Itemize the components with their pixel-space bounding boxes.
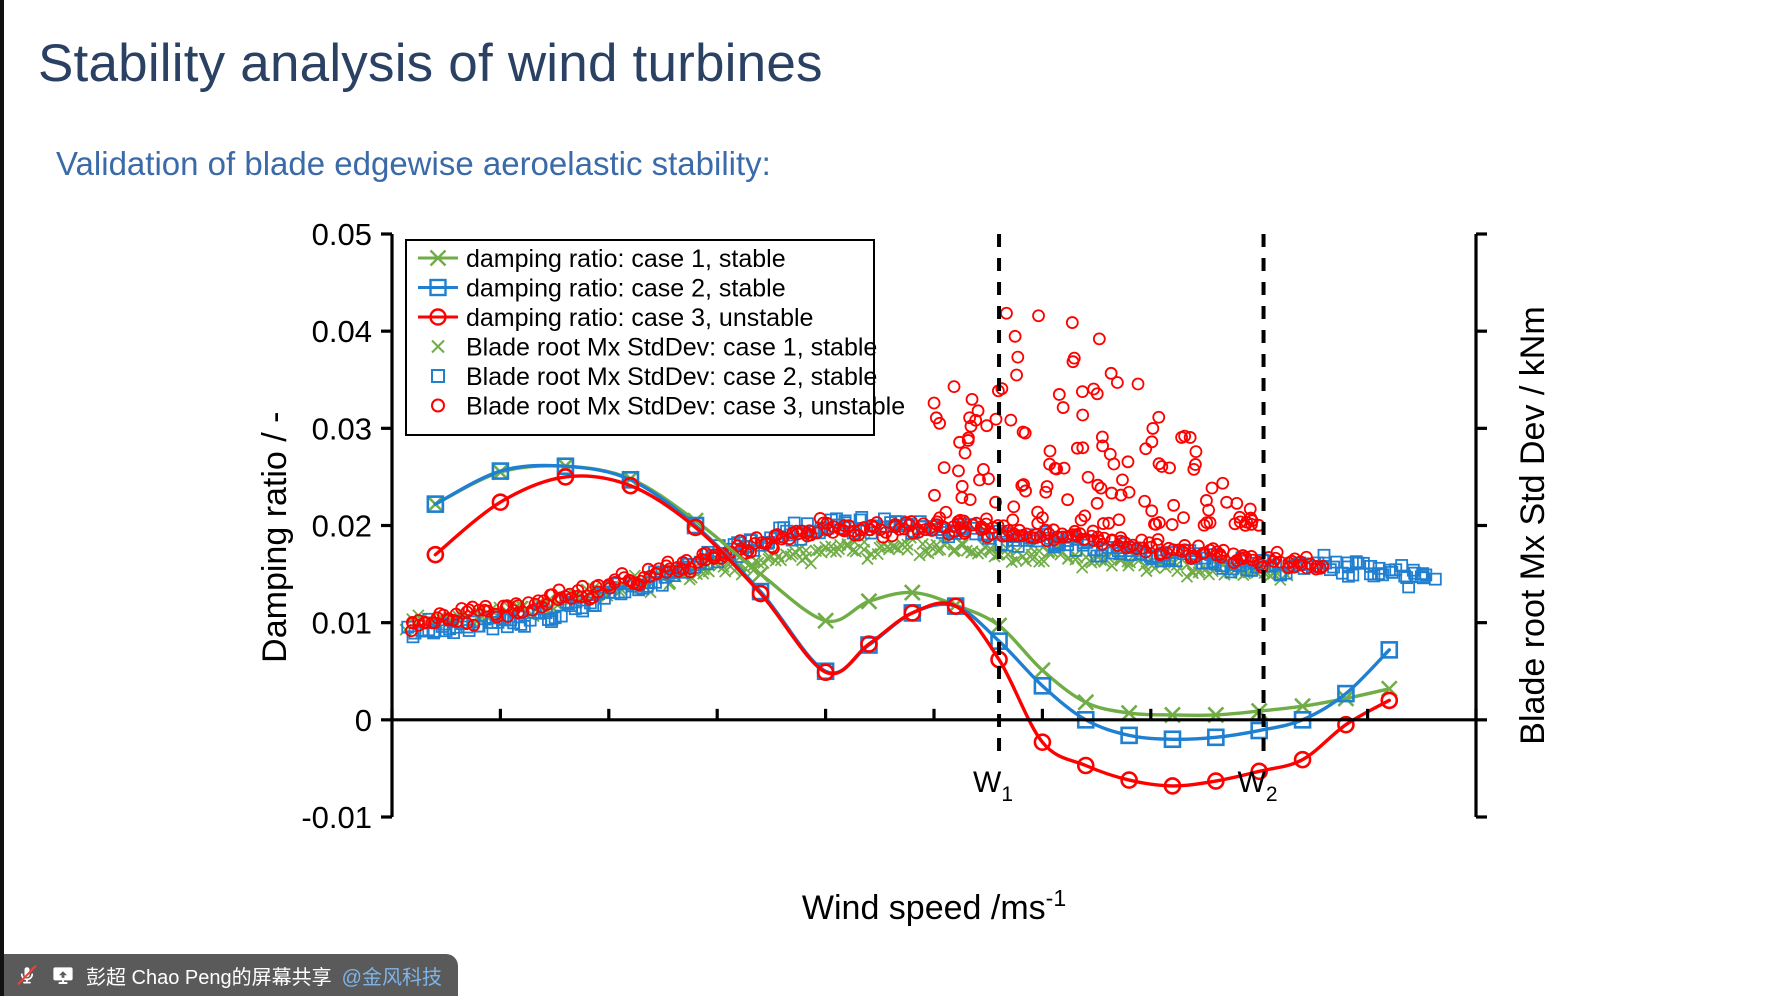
data-marker	[1078, 695, 1093, 710]
data-marker	[1067, 317, 1078, 328]
data-marker	[1008, 501, 1019, 512]
y-tick-label: 0	[355, 703, 372, 738]
page-title: Stability analysis of wind turbines	[38, 34, 823, 93]
data-marker	[1133, 379, 1144, 390]
share-org-label: @金风科技	[342, 961, 442, 990]
data-marker	[967, 394, 978, 405]
data-marker	[1122, 456, 1133, 467]
data-marker	[1007, 514, 1018, 525]
y-tick-label: 0.02	[312, 509, 372, 544]
data-marker	[1054, 389, 1065, 400]
data-marker	[1005, 415, 1016, 426]
data-marker	[939, 462, 950, 473]
data-marker	[960, 447, 971, 458]
data-marker	[953, 465, 964, 476]
data-marker	[753, 567, 768, 582]
data-marker	[902, 544, 913, 555]
data-marker	[1147, 423, 1158, 434]
data-marker	[1217, 478, 1228, 489]
data-marker	[1154, 458, 1165, 469]
stability-chart: 0.050.040.030.020.010-0.01W1W2Damping ra…	[234, 222, 1564, 937]
legend-label: damping ratio: case 3, unstable	[466, 304, 813, 332]
x-axis-title: Wind speed /ms-1	[802, 885, 1066, 927]
y-tick-label: -0.01	[301, 800, 372, 835]
data-marker	[1010, 331, 1021, 342]
y-tick-label: 0.01	[312, 606, 372, 641]
data-marker	[1033, 310, 1044, 321]
data-marker	[1139, 496, 1150, 507]
legend-item: Blade root Mx StdDev: case 1, stable	[432, 334, 877, 362]
screen-share-icon[interactable]	[50, 962, 76, 988]
data-marker	[1083, 472, 1094, 483]
data-marker	[1168, 500, 1179, 511]
y-axis-left-title: Damping ratio / -	[256, 411, 294, 662]
legend-label: Blade root Mx StdDev: case 3, unstable	[466, 393, 905, 421]
data-marker	[981, 420, 992, 431]
y-axis-right-title: Blade root Mx Std Dev / kNm	[1514, 306, 1552, 744]
share-owner-label: 彭超 Chao Peng的屏幕共享	[86, 961, 332, 990]
data-marker	[1156, 461, 1167, 472]
legend-label: damping ratio: case 1, stable	[466, 245, 786, 273]
data-marker	[1146, 505, 1157, 516]
legend-item: damping ratio: case 2, stable	[418, 275, 786, 303]
legend-item: damping ratio: case 3, unstable	[418, 304, 813, 332]
data-marker	[1095, 483, 1106, 494]
data-marker	[1206, 482, 1217, 493]
data-marker	[1178, 512, 1189, 523]
legend-item: damping ratio: case 1, stable	[418, 245, 786, 273]
data-marker	[1140, 443, 1151, 454]
line-layer	[428, 459, 1397, 794]
w1-label: W1	[973, 766, 1013, 806]
data-marker	[1058, 402, 1069, 413]
data-marker	[1012, 352, 1023, 363]
data-marker	[929, 397, 940, 408]
y-tick-label: 0.04	[312, 314, 372, 349]
legend-item: Blade root Mx StdDev: case 2, stable	[432, 363, 877, 391]
data-marker	[957, 481, 968, 492]
data-marker	[1044, 445, 1055, 456]
y-tick-label: 0.03	[312, 411, 372, 446]
legend-label: damping ratio: case 2, stable	[466, 275, 786, 303]
data-marker	[1190, 446, 1201, 457]
data-marker	[1092, 498, 1103, 509]
data-marker	[1112, 377, 1123, 388]
data-marker	[929, 490, 940, 501]
slide-subtitle: Validation of blade edgewise aeroelastic…	[56, 145, 771, 183]
screen-share-status-bar[interactable]: 彭超 Chao Peng的屏幕共享 @金风科技	[4, 954, 458, 996]
slide: Stability analysis of wind turbines Vali…	[0, 0, 1768, 996]
data-marker	[1035, 663, 1050, 678]
data-marker	[1001, 308, 1012, 319]
chart-legend: damping ratio: case 1, stabledamping rat…	[406, 240, 905, 435]
data-marker	[1077, 409, 1088, 420]
data-marker	[805, 558, 816, 569]
data-marker	[1062, 494, 1073, 505]
data-marker	[1077, 386, 1088, 397]
w2-label: W2	[1238, 766, 1278, 806]
microphone-muted-icon[interactable]	[14, 962, 40, 988]
data-marker	[1231, 498, 1242, 509]
data-marker	[1146, 436, 1157, 447]
legend-label: Blade root Mx StdDev: case 1, stable	[466, 334, 877, 362]
data-marker	[1105, 449, 1116, 460]
data-marker	[949, 381, 960, 392]
legend-label: Blade root Mx StdDev: case 2, stable	[466, 363, 877, 391]
data-marker	[1117, 474, 1128, 485]
data-marker	[1153, 412, 1164, 423]
chart-container: 0.050.040.030.020.010-0.01W1W2Damping ra…	[234, 222, 1564, 937]
data-marker	[978, 464, 989, 475]
data-marker	[1221, 497, 1232, 508]
data-marker	[1094, 333, 1105, 344]
y-tick-label: 0.05	[312, 222, 372, 252]
legend-item: Blade root Mx StdDev: case 3, unstable	[432, 393, 905, 421]
data-marker	[1167, 519, 1178, 530]
data-marker	[1092, 480, 1103, 491]
data-marker	[1011, 370, 1022, 381]
